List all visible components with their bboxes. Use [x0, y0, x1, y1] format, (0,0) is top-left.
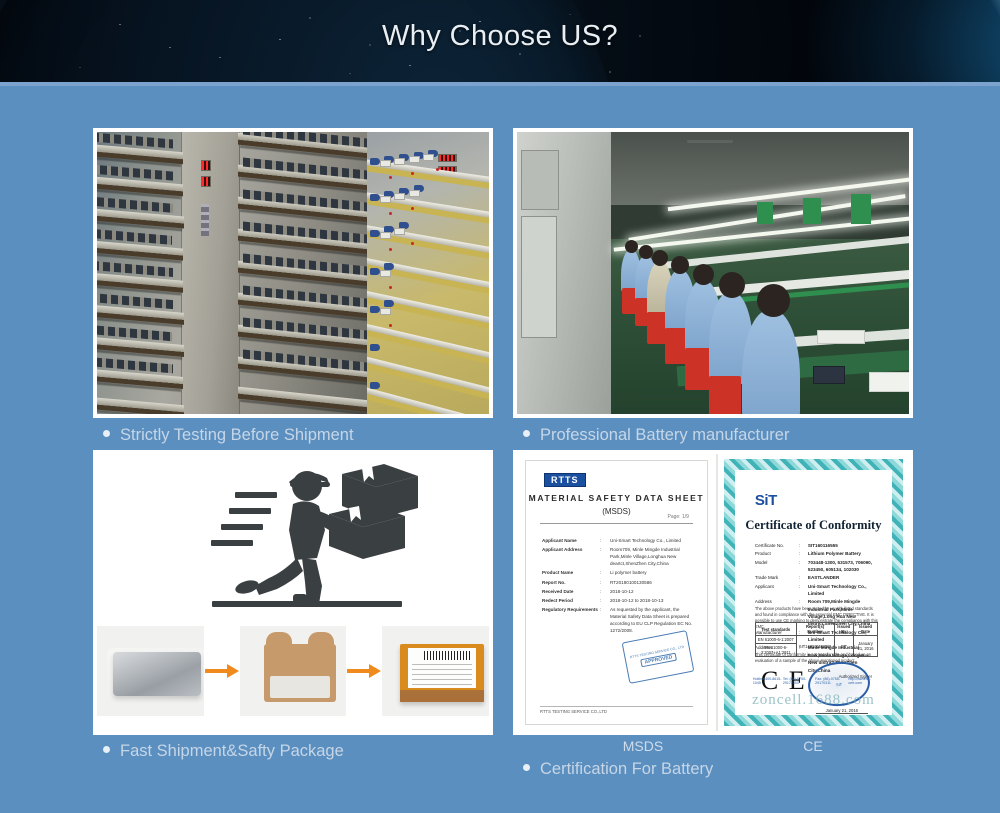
ce-field-row: Product:Lithium Polymer Battery	[755, 550, 878, 557]
ce-title: Certificate of Conformity	[735, 518, 892, 533]
footer-tel: Tel: (86)-0755-29172300	[783, 677, 815, 685]
arrow-2-icon	[346, 664, 382, 678]
panel-shipment: Fast Shipment&Safty Package	[93, 450, 493, 735]
sealed-carton-with-label	[400, 644, 484, 702]
table-row: EN 61000-6-1:2007 SIT160116555ER SIT Jan…	[755, 636, 877, 644]
field-value: Li polymer battery	[610, 569, 695, 576]
ce-footer: Hotline:400-8615-1045 Tel: (86)-0755-291…	[753, 677, 878, 685]
sit-logo: SiT	[755, 492, 777, 509]
msds-field-row: Redect Period:2018-10-12 to 2018-10-13	[542, 597, 695, 604]
green-divider-2	[803, 198, 821, 224]
field-value: 2018-10-12 to 2018-10-13	[610, 597, 695, 604]
parts-box	[869, 372, 909, 392]
ce-field-row: Certificate No.:SIT160116555	[755, 542, 878, 549]
photo-certificates: RTTS MATERIAL SAFETY DATA SHEET (MSDS) P…	[513, 450, 913, 735]
bullet-icon	[103, 746, 110, 753]
field-value: 703448-1300, 531573, 706090, 523450, 605…	[808, 559, 878, 574]
panel-testing: Strictly Testing Before Shipment	[93, 128, 493, 418]
certificates-scene: RTTS MATERIAL SAFETY DATA SHEET (MSDS) P…	[517, 454, 909, 731]
caption-text: Certification For Battery	[540, 760, 713, 778]
ce-certificate: SiT Certificate of Conformity Certificat…	[718, 454, 909, 731]
caption-shipment: Fast Shipment&Safty Package	[103, 742, 344, 761]
footer-fax: Fax: (86)-0755-29170311	[815, 677, 848, 685]
msds-field-row: Applicant Name:Uni-Smart Technology Co.,…	[542, 537, 695, 544]
why-choose-us-page: Why Choose US?	[0, 0, 1000, 813]
rack-right-led	[438, 154, 457, 162]
ce-field-row: Trade Mark:EASTLANDER	[755, 574, 878, 581]
col-test-standards: Test standards	[755, 623, 796, 636]
package-step-2	[240, 626, 347, 716]
col-issued-by: Issued By	[834, 623, 854, 636]
msds-field-row: Regulatory Requirements:As requested by …	[542, 606, 695, 634]
field-value: RT20180100130586	[610, 579, 695, 586]
photo-battery-test-racks	[93, 128, 493, 418]
photo-factory-assembly-line	[513, 128, 913, 418]
ce-field-row: Model:703448-1300, 531573, 706090, 52345…	[755, 559, 878, 574]
package-step-3	[382, 626, 489, 716]
field-key: Regulatory Requirements	[542, 606, 600, 634]
msds-field-row: Product Name:Li polymer battery	[542, 569, 695, 576]
control-keypad	[201, 204, 208, 236]
msds-footer: RTTS TESTING SERVICE CO.,LTD	[540, 706, 693, 714]
footer-hotline: Hotline:400-8615-1045	[753, 677, 783, 685]
arrow-1-icon	[204, 664, 240, 678]
caption-text: Professional Battery manufacturer	[540, 426, 789, 444]
col-report-number: Report(s) Number	[796, 623, 834, 636]
rack-left-section	[97, 132, 367, 414]
header-banner: Why Choose US?	[0, 0, 1000, 82]
feature-grid: Strictly Testing Before Shipment	[0, 86, 1000, 813]
tool-bag	[813, 366, 845, 384]
rack-right-section	[367, 132, 489, 414]
led-display-bottom	[201, 176, 210, 187]
battery-test-rack-scene	[97, 132, 489, 414]
field-value: Lithium Polymer Battery	[808, 550, 878, 557]
msds-title: MATERIAL SAFETY DATA SHEET	[526, 493, 707, 503]
msds-field-row: Applicant Address:Room709, Minle Mingde …	[542, 546, 695, 567]
sit-logo-text: SiT	[755, 492, 777, 509]
wall-cabinet-1	[521, 150, 559, 210]
msds-field-list: Applicant Name:Uni-Smart Technology Co.,…	[542, 537, 695, 636]
field-key: Product Name	[542, 569, 600, 576]
packaging-steps-row	[97, 615, 489, 726]
msds-divider	[540, 523, 693, 524]
green-divider-1	[757, 202, 773, 224]
caption-certification: Certification For Battery	[523, 760, 713, 779]
factory-scene	[517, 132, 909, 414]
field-key: Applicant	[755, 583, 799, 598]
led-display-top	[201, 160, 210, 171]
field-key: Applicant Name	[542, 537, 600, 544]
open-carton	[264, 644, 336, 702]
ce-note-2: This certificate of conformity is not tr…	[755, 652, 878, 664]
msds-footer-text: RTTS TESTING SERVICE CO.,LTD	[540, 709, 607, 714]
msds-page: RTTS MATERIAL SAFETY DATA SHEET (MSDS) P…	[525, 460, 708, 725]
green-divider-3	[851, 194, 871, 224]
photo-shipment-packaging	[93, 450, 493, 735]
field-key: Redect Period	[542, 597, 600, 604]
field-key: Received Date	[542, 588, 600, 595]
delivery-illustration	[97, 454, 489, 606]
field-value: EASTLANDER	[808, 574, 878, 581]
approved-stamp: RTTS TESTING SERVICE CO., LTD APPROVED	[621, 630, 694, 684]
package-step-1	[97, 626, 204, 716]
field-key: Product	[755, 550, 799, 557]
bullet-icon	[523, 430, 530, 437]
msds-field-row: Received Date:2018-10-12	[542, 588, 695, 595]
antistatic-bag-cell	[113, 652, 201, 696]
footer-url: http://www.sit-cert.com	[848, 677, 878, 685]
wall-cabinet-2	[521, 216, 557, 338]
panel-manufacturer: Professional Battery manufacturer	[513, 128, 913, 418]
col-issued-date: Issued Date	[854, 623, 878, 636]
field-key: Applicant Address	[542, 546, 600, 567]
cell-standard: EN 61000-6-1:2007	[755, 636, 796, 644]
bullet-icon	[103, 430, 110, 437]
field-value: Uni-Smart Technology Co., Limited	[808, 583, 878, 598]
ce-page: SiT Certificate of Conformity Certificat…	[724, 459, 903, 726]
panel-certification: RTTS MATERIAL SAFETY DATA SHEET (MSDS) P…	[513, 450, 913, 735]
msds-page-number: Page: 1/9	[667, 514, 688, 520]
rack-control-panel	[181, 132, 240, 414]
ce-field-row: Applicant:Uni-Smart Technology Co., Limi…	[755, 583, 878, 598]
msds-field-row: Report No.:RT20180100130586	[542, 579, 695, 586]
component-tray	[817, 330, 865, 344]
bullet-icon	[523, 764, 530, 771]
caption-testing: Strictly Testing Before Shipment	[103, 426, 354, 445]
field-value: Uni-Smart Technology Co., Limited	[610, 537, 695, 544]
msds-document: RTTS MATERIAL SAFETY DATA SHEET (MSDS) P…	[517, 454, 718, 731]
field-key: Trade Mark	[755, 574, 799, 581]
table-header-row: Test standards Report(s) Number Issued B…	[755, 623, 877, 636]
label-ce: CE	[743, 738, 883, 754]
watermark: zoncell.1688.com	[735, 692, 892, 709]
field-value: SIT160116555	[808, 542, 878, 549]
caption-text: Fast Shipment&Safty Package	[120, 742, 344, 760]
ceiling-fan-2	[667, 172, 701, 175]
field-value: 2018-10-12	[610, 588, 695, 595]
label-msds: MSDS	[573, 738, 713, 754]
field-key: Certificate No.	[755, 542, 799, 549]
caption-manufacturer: Professional Battery manufacturer	[523, 426, 789, 445]
shipment-scene	[97, 454, 489, 731]
field-key: Model	[755, 559, 799, 574]
ceiling-fan-1	[687, 140, 733, 143]
running-courier-icon	[97, 454, 493, 610]
rtts-logo: RTTS	[544, 473, 586, 487]
field-value: Room709, Minle Mingde Industrial Park,Mi…	[610, 546, 695, 567]
page-title: Why Choose US?	[0, 20, 1000, 53]
field-key: Report No.	[542, 579, 600, 586]
caption-text: Strictly Testing Before Shipment	[120, 426, 354, 444]
